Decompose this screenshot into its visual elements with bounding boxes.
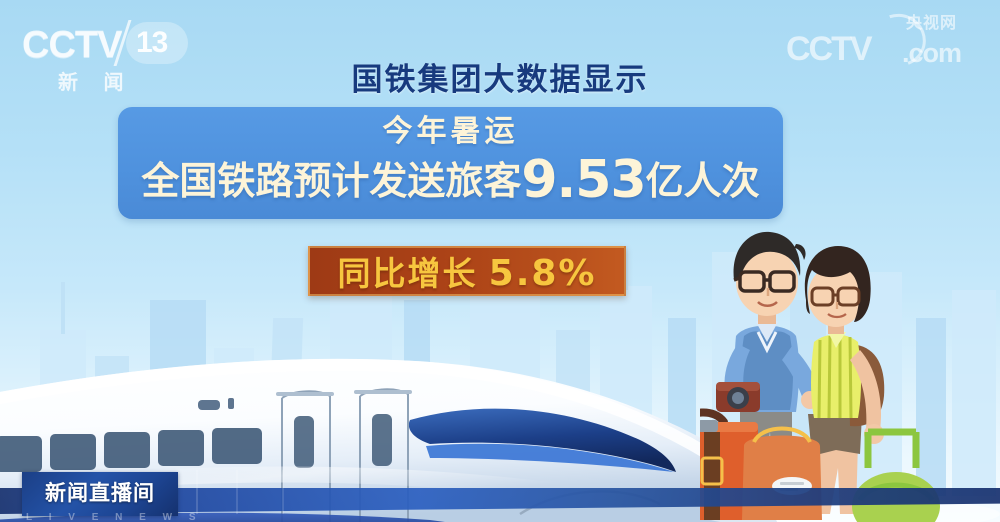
lower-third: 新闻直播间 L I V E N E W S: [0, 464, 1000, 522]
banner-line-1: 今年暑运: [383, 113, 519, 151]
suitcase-latch: [700, 420, 718, 432]
program-subtitle: L I V E N E W S: [26, 512, 203, 522]
badge-label: 同比增长: [337, 255, 477, 292]
broadcast-screen: CCTV 13 新 闻 CCTV .com 央视网 国铁集团大数据显示 今年暑运…: [0, 0, 1000, 522]
lower-third-tick: [196, 470, 198, 514]
camera-lens-inner: [732, 392, 744, 404]
banner-stat-number: 9.53: [521, 150, 645, 210]
lower-third-tick: [236, 470, 238, 514]
train-door-header-left: [276, 392, 334, 396]
banner-stat-prefix: 全国铁路预计发送旅客: [141, 161, 521, 203]
train-indicator-lamp: [198, 400, 220, 410]
main-stat-banner: 今年暑运 全国铁路预计发送旅客9.53亿人次: [118, 107, 783, 219]
watermark-chinese-label: 央视网: [906, 16, 957, 32]
train-door-header-right: [354, 390, 412, 394]
page-title: 国铁集团大数据显示: [0, 54, 1000, 99]
banner-stat-suffix: 亿人次: [646, 161, 760, 203]
lower-third-tick: [282, 470, 284, 514]
program-title: 新闻直播间: [22, 477, 178, 507]
banner-line-2: 全国铁路预计发送旅客9.53亿人次: [141, 151, 759, 211]
train-indicator-dot: [228, 398, 234, 409]
train-door-window-left: [294, 416, 314, 468]
program-title-box: 新闻直播间: [22, 472, 178, 516]
train-door-window-right: [372, 414, 392, 466]
